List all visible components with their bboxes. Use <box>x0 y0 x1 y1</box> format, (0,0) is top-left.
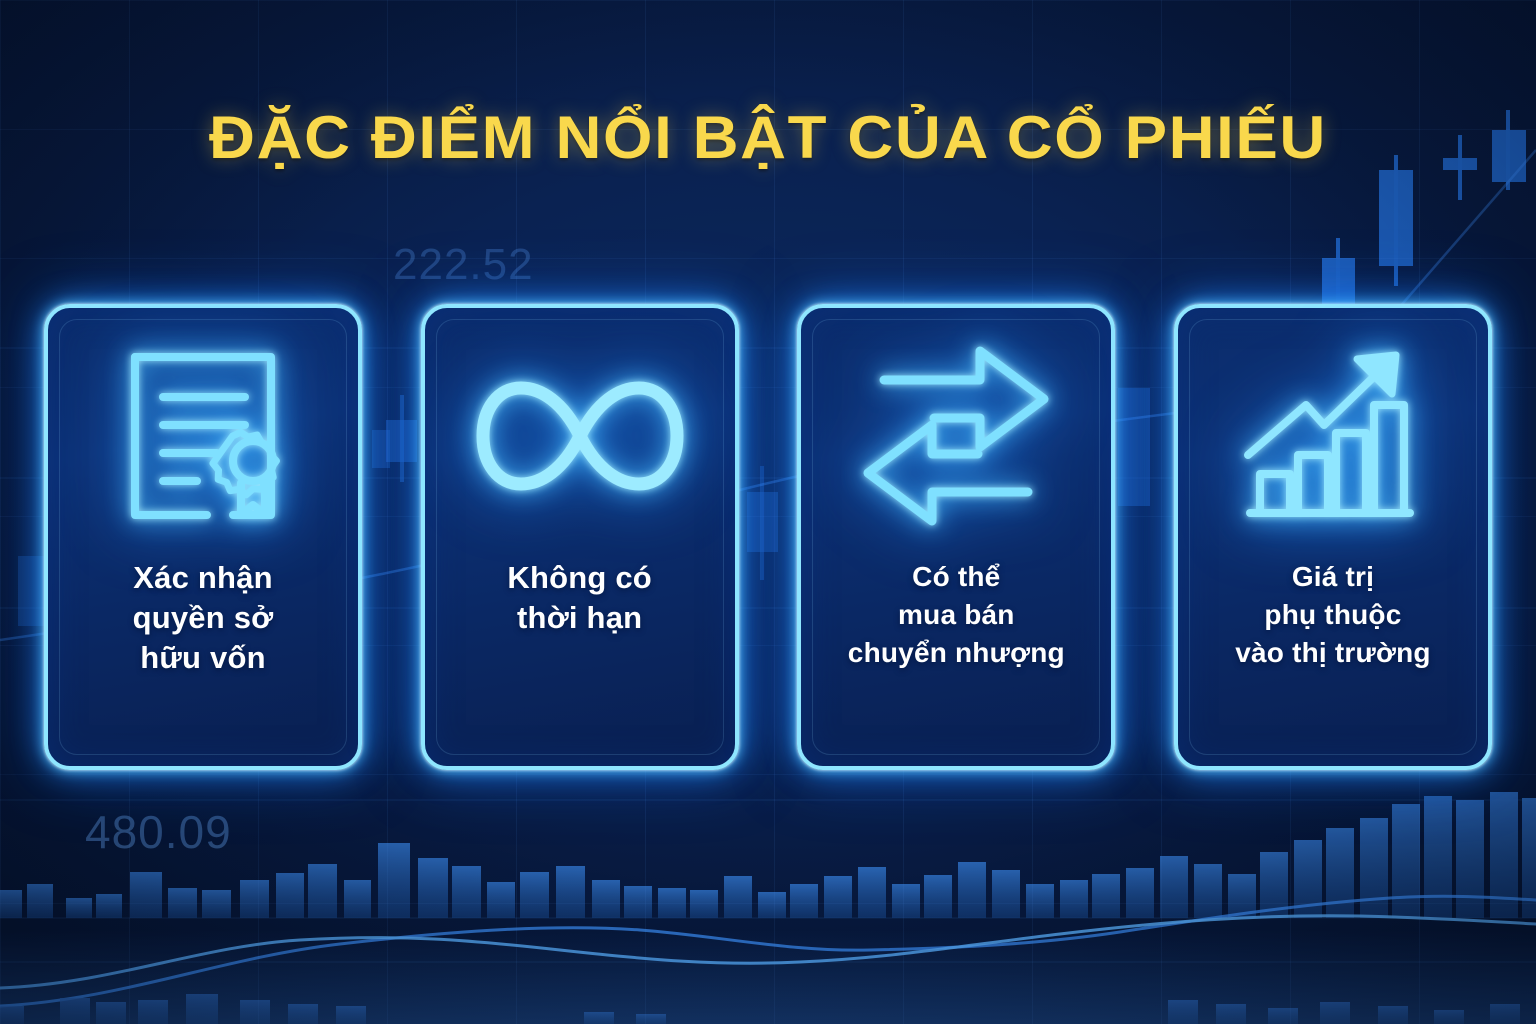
background-number-1: 222.52 <box>393 240 534 290</box>
feature-card-2[interactable]: Không có thời hạn <box>421 304 739 770</box>
infinity-icon <box>425 308 735 558</box>
feature-card-3-label: Có thể mua bán chuyển nhượng <box>801 558 1111 672</box>
certificate-icon <box>48 308 358 558</box>
secondary-volume-bars <box>0 994 1520 1024</box>
feature-card-1[interactable]: Xác nhận quyền sở hữu vốn <box>44 304 362 770</box>
feature-card-2-label: Không có thời hạn <box>425 558 735 638</box>
background-number-3: 480.09 <box>85 805 232 859</box>
bg-trend-curves <box>0 896 1536 1006</box>
feature-card-4[interactable]: Giá trị phụ thuộc vào thị trường <box>1174 304 1492 770</box>
growth-bar-chart-icon <box>1178 308 1488 558</box>
bottom-glow <box>0 930 1536 1024</box>
infographic-canvas: 222.52 8 480.09 ĐẶC ĐIỂM NỔI BẬT CỦA CỔ … <box>0 0 1536 1024</box>
page-title: ĐẶC ĐIỂM NỔI BẬT CỦA CỔ PHIẾU <box>0 105 1536 171</box>
feature-card-3[interactable]: Có thể mua bán chuyển nhượng <box>797 304 1115 770</box>
feature-card-row: Xác nhận quyền sở hữu vốn Không có thời … <box>44 304 1492 770</box>
feature-card-1-label: Xác nhận quyền sở hữu vốn <box>48 558 358 678</box>
exchange-arrows-icon <box>801 308 1111 558</box>
feature-card-4-label: Giá trị phụ thuộc vào thị trường <box>1178 558 1488 672</box>
